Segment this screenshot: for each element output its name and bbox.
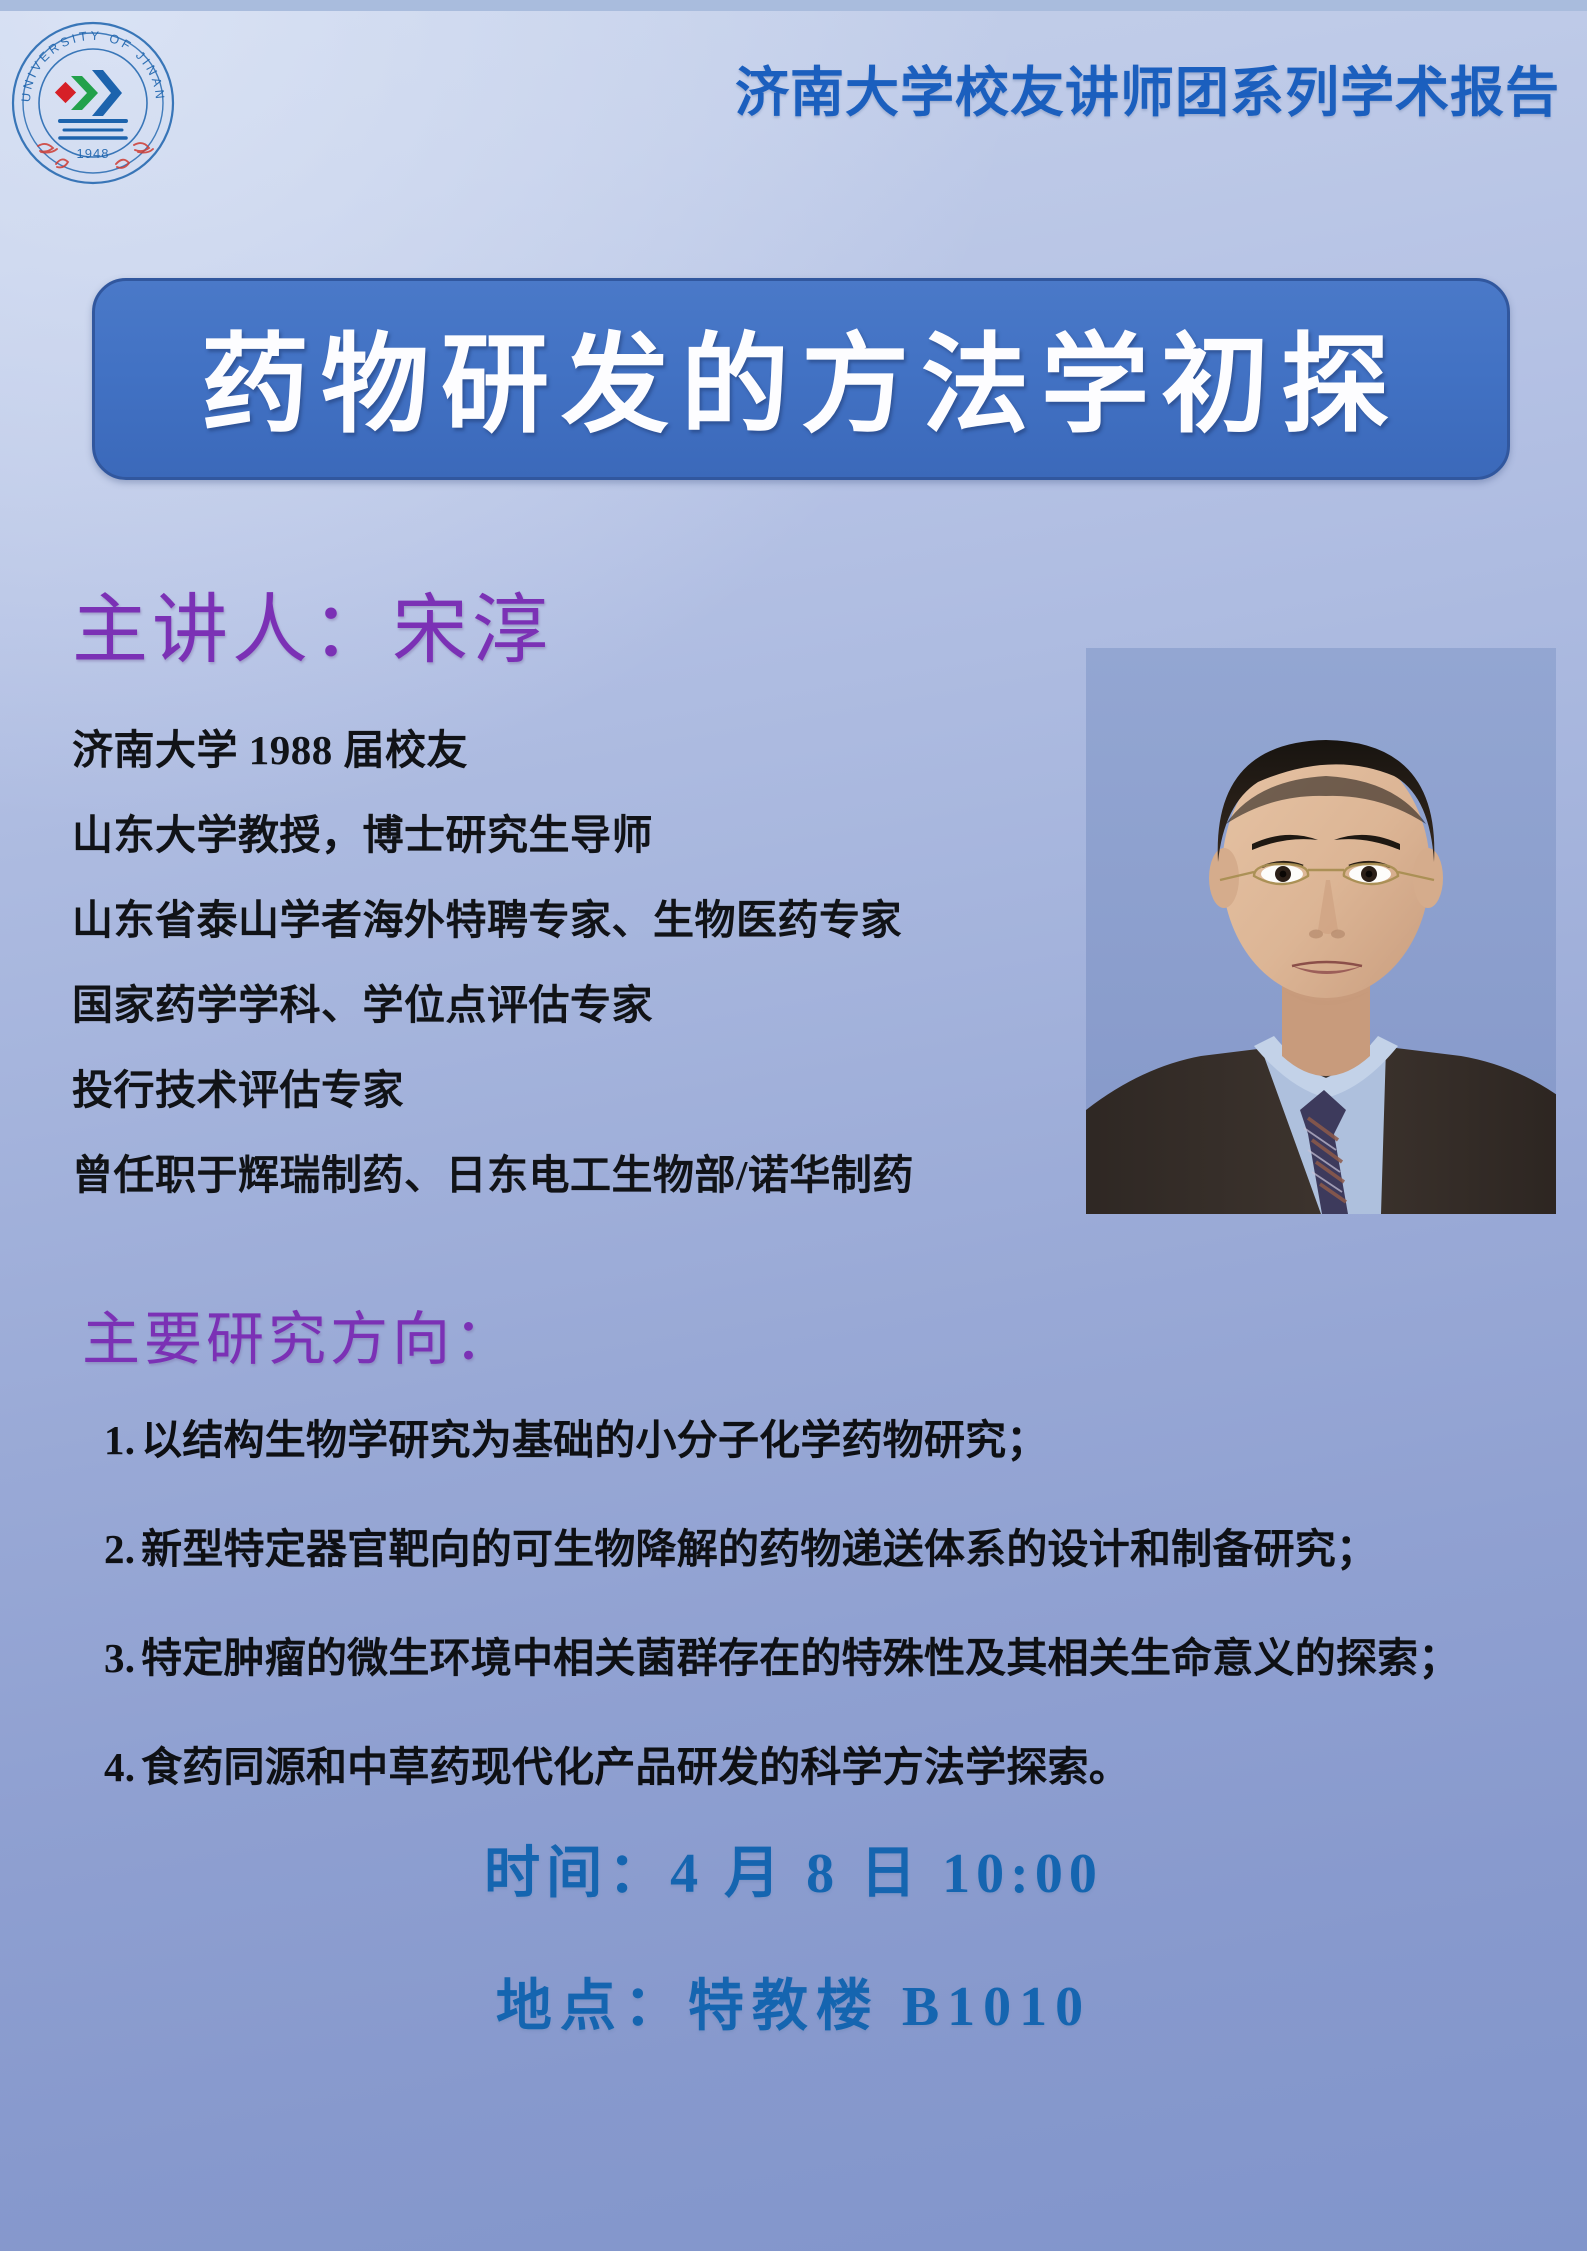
bio-line: 济南大学 1988 届校友 [72, 730, 1072, 771]
speaker-photo [1086, 648, 1556, 1214]
research-item-text: 食药同源和中草药现代化产品研发的科学方法学探索。 [141, 1744, 1130, 1790]
event-details: 时间：4 月 8 日 10:00 地点：特教楼 B1010 [0, 1828, 1587, 2094]
research-item: 3.特定肿瘤的微生环境中相关菌群存在的特殊性及其相关生命意义的探索； [104, 1624, 1554, 1684]
research-item-number: 3. [104, 1635, 135, 1681]
svg-text:1948: 1948 [77, 146, 110, 161]
research-item-text: 特定肿瘤的微生环境中相关菌群存在的特殊性及其相关生命意义的探索； [141, 1635, 1459, 1681]
top-edge-band [0, 0, 1587, 11]
research-item: 1.以结构生物学研究为基础的小分子化学药物研究； [104, 1406, 1554, 1466]
bio-line: 山东省泰山学者海外特聘专家、生物医药专家 [72, 900, 1072, 941]
poster-root: UNIVERSITY OF JINAN 1948 [0, 0, 1587, 2251]
university-logo: UNIVERSITY OF JINAN 1948 [8, 18, 178, 188]
bio-line: 曾任职于辉瑞制药、日东电工生物部/诺华制药 [72, 1155, 1072, 1196]
research-item-number: 1. [104, 1417, 135, 1463]
research-item: 4.食药同源和中草药现代化产品研发的科学方法学探索。 [104, 1733, 1554, 1793]
research-item: 2.新型特定器官靶向的可生物降解的药物递送体系的设计和制备研究； [104, 1515, 1554, 1575]
research-directions-list: 1.以结构生物学研究为基础的小分子化学药物研究； 2.新型特定器官靶向的可生物降… [104, 1406, 1554, 1842]
event-time: 时间：4 月 8 日 10:00 [0, 1828, 1587, 1909]
research-item-number: 2. [104, 1526, 135, 1572]
title-banner: 药物研发的方法学初探 [92, 278, 1510, 480]
lecture-title: 药物研发的方法学初探 [95, 298, 1507, 454]
event-location: 地点：特教楼 B1010 [0, 1961, 1587, 2042]
series-title: 济南大学校友讲师团系列学术报告 [640, 48, 1560, 127]
research-item-text: 以结构生物学研究为基础的小分子化学药物研究； [141, 1417, 1047, 1463]
speaker-heading: 主讲人：宋淳 [72, 568, 552, 678]
speaker-bio-list: 济南大学 1988 届校友 山东大学教授，博士研究生导师 山东省泰山学者海外特聘… [72, 730, 1072, 1240]
bio-line: 投行技术评估专家 [72, 1070, 1072, 1111]
research-directions-heading: 主要研究方向： [82, 1292, 516, 1376]
research-item-text: 新型特定器官靶向的可生物降解的药物递送体系的设计和制备研究； [141, 1526, 1377, 1572]
bio-line: 国家药学学科、学位点评估专家 [72, 985, 1072, 1026]
bio-line: 山东大学教授，博士研究生导师 [72, 815, 1072, 856]
research-item-number: 4. [104, 1744, 135, 1790]
